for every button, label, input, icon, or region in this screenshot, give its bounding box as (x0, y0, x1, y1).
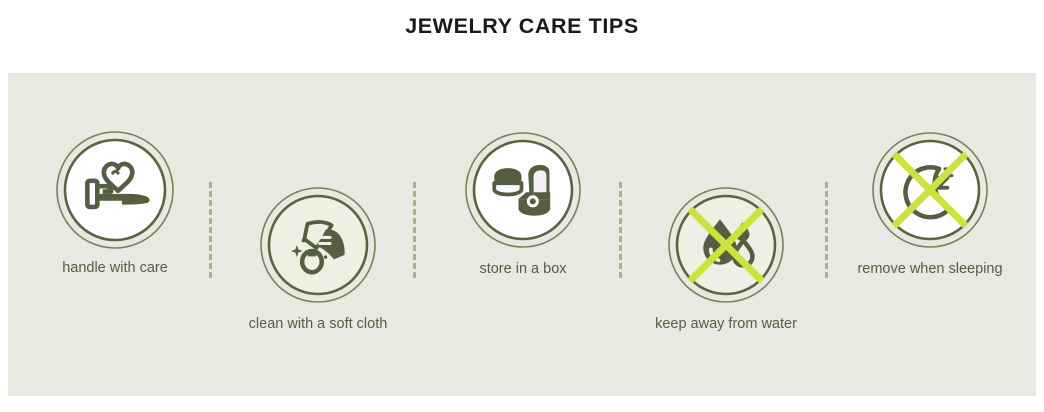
tip-icon-badge (255, 182, 381, 308)
tip-item-handle-with-care[interactable] (51, 126, 179, 254)
tip-icon-badge (51, 126, 179, 254)
section-divider-4 (825, 182, 828, 278)
tip-label-keep-away-from-water: keep away from water (204, 316, 1044, 332)
jewelry-care-infographic: JEWELRY CARE TIPS handle with careclean … (0, 0, 1044, 412)
tip-item-clean-with-a-soft-cloth[interactable] (255, 182, 381, 308)
section-divider-2 (413, 182, 416, 278)
section-divider-3 (619, 182, 622, 278)
section-divider-1 (209, 182, 212, 278)
tip-icon-badge (663, 182, 789, 308)
tip-item-keep-away-from-water[interactable] (663, 182, 789, 308)
tip-item-remove-when-sleeping[interactable] (867, 127, 993, 253)
page-title: JEWELRY CARE TIPS (0, 14, 1044, 39)
tip-label-remove-when-sleeping: remove when sleeping (408, 261, 1044, 277)
tip-icon-badge (460, 127, 586, 253)
tip-item-store-in-a-box[interactable] (460, 127, 586, 253)
tip-icon-badge (867, 127, 993, 253)
